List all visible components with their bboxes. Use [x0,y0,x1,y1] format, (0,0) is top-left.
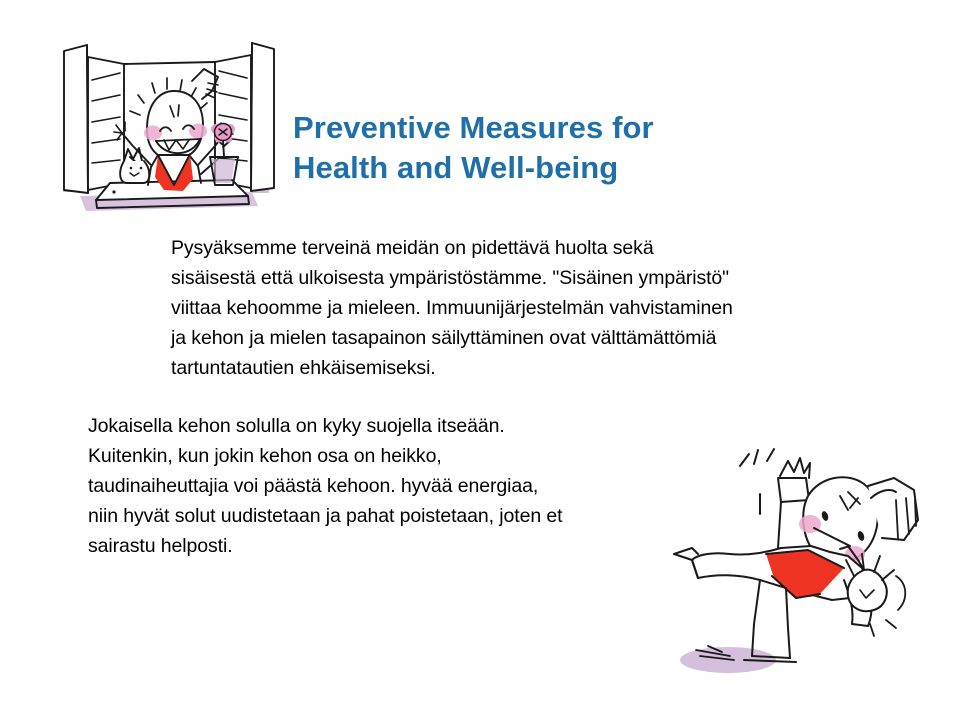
body-paragraph-2: Jokaisella kehon solulla on kyky suojell… [88,411,728,561]
slide-title: Preventive Measures for Health and Well-… [293,108,893,188]
person-stretching-illustration [668,428,960,684]
slide-canvas: Preventive Measures for Health and Well-… [0,0,960,720]
child-at-open-window-illustration [52,33,288,219]
body-paragraph-1: Pysyäksemme terveinä meidän on pidettävä… [171,233,891,383]
